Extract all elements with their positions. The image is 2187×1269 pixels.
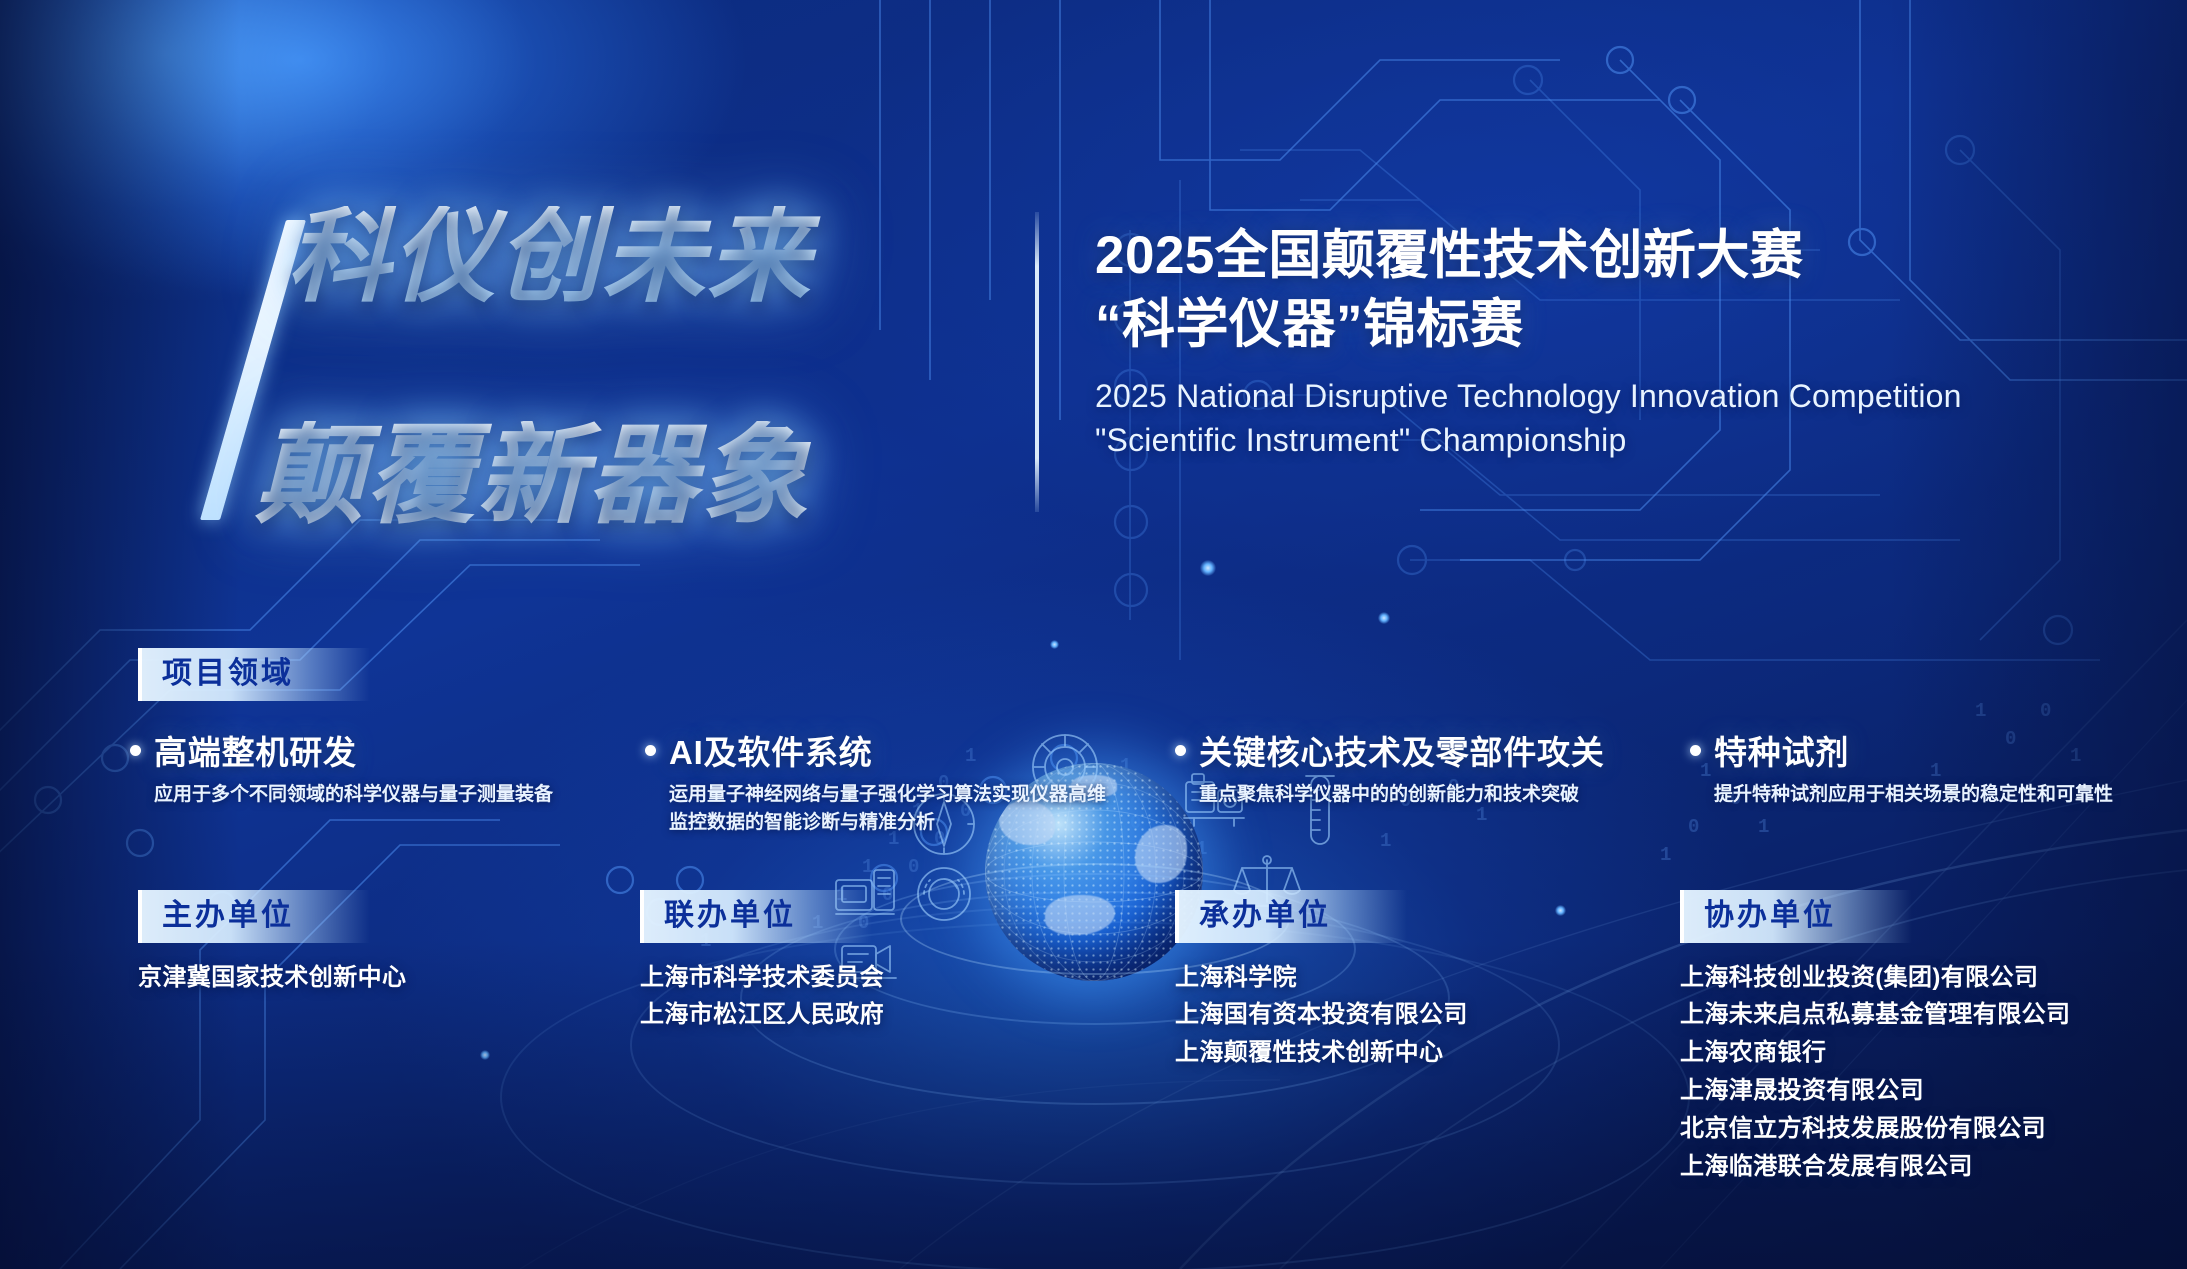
org-block-supporter: 协办单位 上海科技创业投资(集团)有限公司 上海未来启点私募基金管理有限公司 上…	[1680, 890, 2070, 1186]
badge-co-organizer: 联办单位	[640, 890, 872, 943]
field-item-1: 高端整机研发 应用于多个不同领域的科学仪器与量子测量装备	[130, 735, 553, 809]
glow-dot	[1200, 560, 1216, 576]
field-item-3: 关键核心技术及零部件攻关 重点聚焦科学仪器中的的创新能力和技术突破	[1175, 735, 1605, 809]
title-block: 2025全国颠覆性技术创新大赛 “科学仪器”锦标赛 2025 National …	[1095, 222, 2095, 462]
field-title: 高端整机研发	[130, 735, 553, 771]
org-name: 上海颠覆性技术创新中心	[1175, 1034, 1468, 1072]
field-title-text: 特种试剂	[1714, 734, 1849, 771]
badge-undertaker: 承办单位	[1175, 890, 1407, 943]
org-name: 上海市科学技术委员会	[640, 959, 884, 997]
org-name: 上海市松江区人民政府	[640, 996, 884, 1034]
org-name: 上海未来启点私募基金管理有限公司	[1680, 996, 2070, 1034]
org-name: 上海津晟投资有限公司	[1680, 1072, 2070, 1110]
field-desc-line: 运用量子神经网络与量子强化学习算法实现仪器高维	[669, 781, 1106, 808]
bullet-dot-icon	[1690, 745, 1701, 756]
bullet-dot-icon	[130, 745, 141, 756]
org-block-host: 主办单位 京津冀国家技术创新中心	[138, 890, 406, 996]
org-name: 北京信立方科技发展股份有限公司	[1680, 1110, 2070, 1148]
glow-dot	[1378, 612, 1390, 624]
org-name: 上海临港联合发展有限公司	[1680, 1148, 2070, 1186]
title-divider	[1035, 212, 1039, 512]
title-en-line1: 2025 National Disruptive Technology Inno…	[1095, 374, 2095, 418]
org-block-co-host: 联办单位 上海市科学技术委员会 上海市松江区人民政府	[640, 890, 884, 1034]
org-name-list: 京津冀国家技术创新中心	[138, 959, 406, 997]
glow-dot	[1555, 905, 1566, 916]
field-title: 特种试剂	[1690, 735, 2113, 771]
org-name: 上海科技创业投资(集团)有限公司	[1680, 959, 2070, 997]
field-title: 关键核心技术及零部件攻关	[1175, 735, 1605, 771]
field-title: AI及软件系统	[645, 735, 1106, 771]
field-item-4: 特种试剂 提升特种试剂应用于相关场景的稳定性和可靠性	[1690, 735, 2113, 809]
bullet-dot-icon	[645, 745, 656, 756]
field-desc-line: 监控数据的智能诊断与精准分析	[669, 809, 1106, 836]
logo-line-2: 颠覆新器象	[255, 421, 990, 530]
title-cn-line2: “科学仪器”锦标赛	[1095, 291, 2095, 360]
org-block-undertaker: 承办单位 上海科学院 上海国有资本投资有限公司 上海颠覆性技术创新中心	[1175, 890, 1468, 1072]
org-name-list: 上海市科学技术委员会 上海市松江区人民政府	[640, 959, 884, 1035]
title-cn-line1: 2025全国颠覆性技术创新大赛	[1095, 222, 2095, 291]
fields-section-header: 项目领域	[138, 648, 370, 701]
field-title-text: 关键核心技术及零部件攻关	[1199, 734, 1605, 771]
org-name: 上海国有资本投资有限公司	[1175, 996, 1468, 1034]
competition-logo: 科仪创未来 颠覆新器象	[255, 200, 990, 545]
badge-supporter: 协办单位	[1680, 890, 1912, 943]
badge-project-fields: 项目领域	[138, 648, 370, 701]
org-name-list: 上海科学院 上海国有资本投资有限公司 上海颠覆性技术创新中心	[1175, 959, 1468, 1073]
badge-host-organizer: 主办单位	[138, 890, 370, 943]
org-name: 上海农商银行	[1680, 1034, 2070, 1072]
org-name: 上海科学院	[1175, 959, 1468, 997]
org-name: 京津冀国家技术创新中心	[138, 959, 406, 997]
glow-dot	[1050, 640, 1059, 649]
bullet-dot-icon	[1175, 745, 1186, 756]
poster-canvas: 1 0 1 0 1 0 1 0 1 0 1 0 1 0 1 0 1 1 0 0 …	[0, 0, 2187, 1269]
field-desc-line: 应用于多个不同领域的科学仪器与量子测量装备	[154, 781, 553, 808]
field-title-text: 高端整机研发	[154, 734, 357, 771]
field-desc-line: 重点聚焦科学仪器中的的创新能力和技术突破	[1199, 781, 1605, 808]
gauge-icon	[912, 862, 976, 926]
org-name-list: 上海科技创业投资(集团)有限公司 上海未来启点私募基金管理有限公司 上海农商银行…	[1680, 959, 2070, 1186]
field-item-2: AI及软件系统 运用量子神经网络与量子强化学习算法实现仪器高维 监控数据的智能诊…	[645, 735, 1106, 836]
field-desc-line: 提升特种试剂应用于相关场景的稳定性和可靠性	[1714, 781, 2113, 808]
field-title-text: AI及软件系统	[669, 734, 873, 771]
logo-line-1: 科仪创未来	[287, 206, 1022, 309]
title-en-line2: "Scientific Instrument" Championship	[1095, 418, 2095, 462]
